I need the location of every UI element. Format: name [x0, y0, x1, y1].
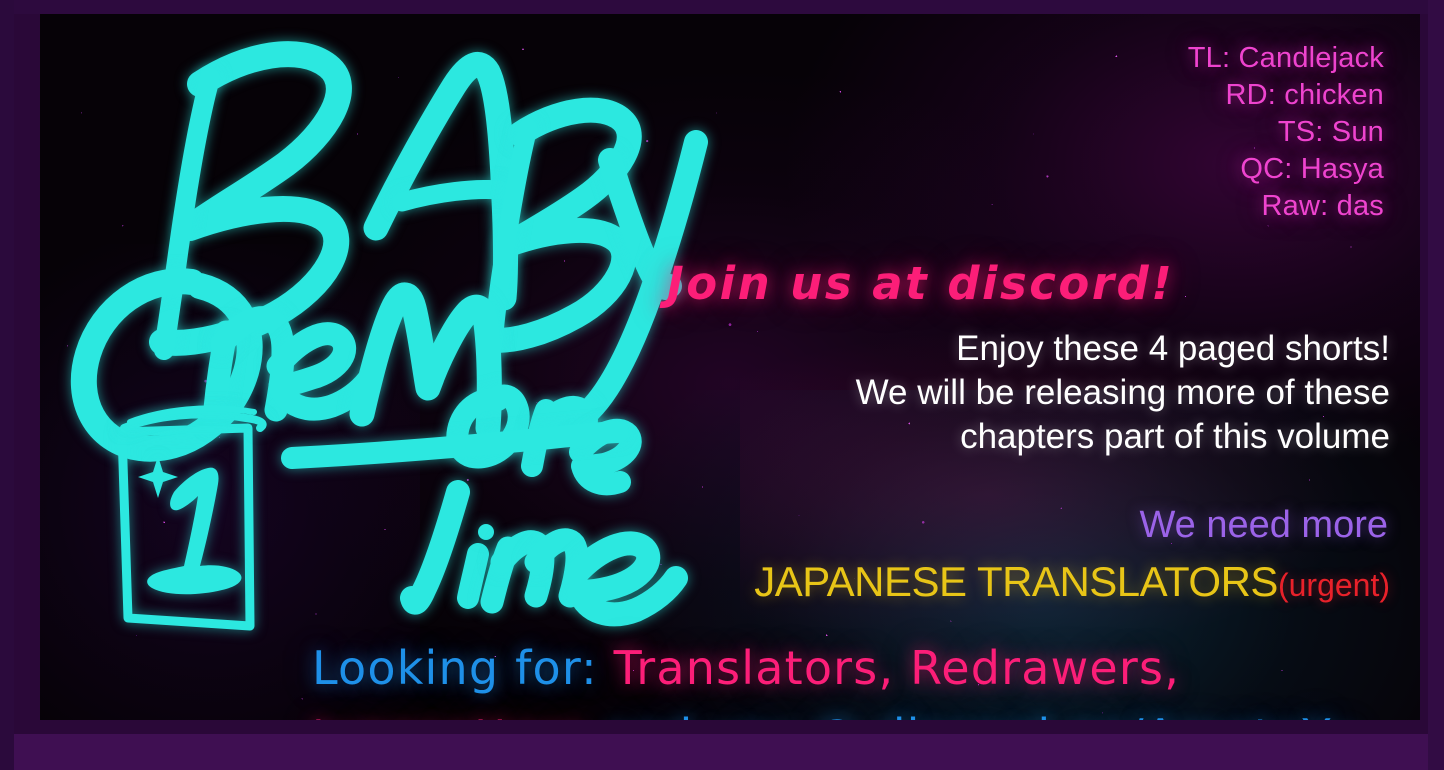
join-discord-headline: Join us at discord!	[667, 257, 1174, 310]
logo-word-time	[292, 432, 676, 614]
japanese-translators-label: JAPANESE TRANSLATORS	[754, 558, 1278, 605]
recruit-roles-line-1: Translators, Redrawers,	[614, 641, 1180, 695]
urgent-tag: (urgent)	[1278, 567, 1390, 603]
release-blurb: Enjoy these 4 paged shorts! We will be r…	[856, 327, 1390, 459]
recruitment-block: Looking for: Translators, Redrawers, typ…	[312, 634, 1357, 720]
looking-for-label: Looking for:	[312, 641, 598, 695]
recruit-role-typesetters: typesetters	[312, 709, 587, 720]
page-root: TL: Candlejack RD: chicken TS: Sun QC: H…	[0, 0, 1444, 770]
credit-line-ts: TS: Sun	[1188, 114, 1384, 151]
credit-line-raw: Raw: das	[1188, 188, 1384, 225]
recruit-line-2: typesetters and you @ discord.gg/AmgtaYu	[312, 702, 1357, 720]
logo-word-one	[84, 281, 631, 484]
discord-invite-link[interactable]: discord.gg/AmgtaYu	[876, 709, 1356, 720]
recruit-connector: and you @	[603, 709, 860, 720]
blurb-line-2: We will be releasing more of these	[856, 371, 1390, 415]
blurb-line-1: Enjoy these 4 paged shorts!	[856, 327, 1390, 371]
starfield-stage: TL: Candlejack RD: chicken TS: Sun QC: H…	[40, 14, 1420, 720]
japanese-translators-headline: JAPANESE TRANSLATORS(urgent)	[754, 558, 1390, 609]
we-need-more-label: We need more	[1139, 503, 1388, 547]
credit-line-rd: RD: chicken	[1188, 77, 1384, 114]
staff-credits: TL: Candlejack RD: chicken TS: Sun QC: H…	[1188, 40, 1384, 225]
volume-badge-book-icon	[122, 408, 263, 626]
blurb-line-3: chapters part of this volume	[856, 415, 1390, 459]
logo-word-baby	[162, 54, 696, 425]
series-logo	[50, 14, 750, 634]
credit-line-qc: QC: Hasya	[1188, 151, 1384, 188]
credit-line-tl: TL: Candlejack	[1188, 40, 1384, 77]
recruit-line-1: Looking for: Translators, Redrawers,	[312, 634, 1357, 702]
